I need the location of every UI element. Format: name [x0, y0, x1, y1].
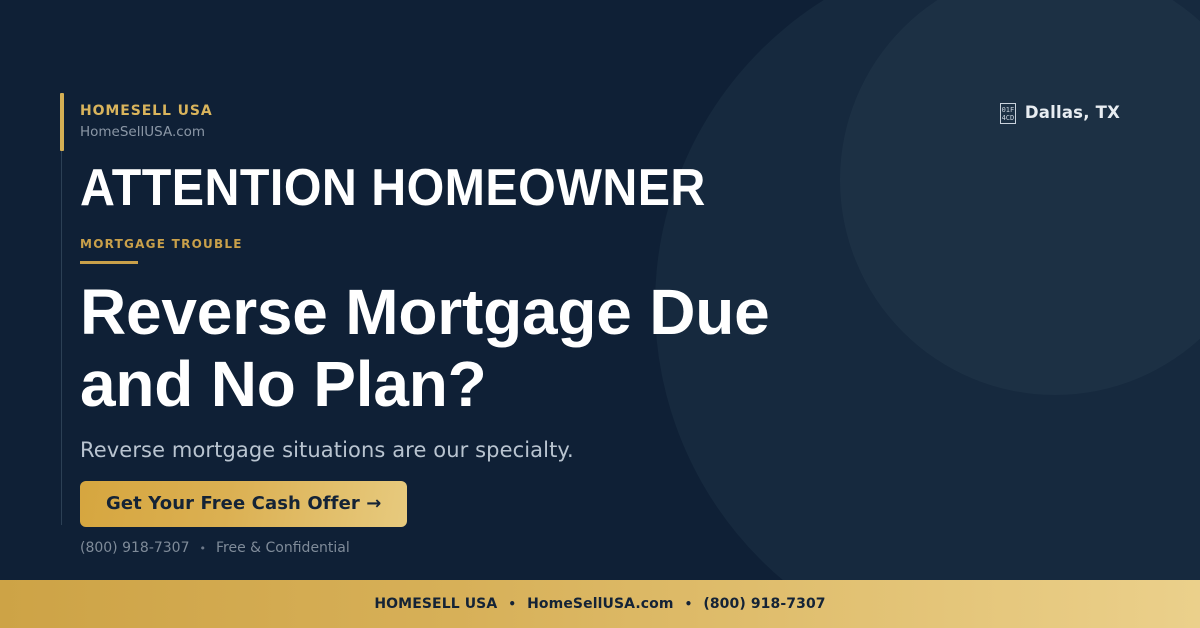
- footer-bar: HOMESELL USA • HomeSellUSA.com • (800) 9…: [0, 580, 1200, 628]
- page-title: Reverse Mortgage Due and No Plan?: [80, 276, 960, 420]
- pin-icon-codepoint-top: 01F: [1002, 106, 1015, 114]
- headline-line-2: and No Plan?: [80, 348, 960, 420]
- contact-separator-icon: •: [200, 543, 207, 554]
- pin-icon-codepoint-bottom: 4CD: [1002, 114, 1015, 122]
- brand-website: HomeSellUSA.com: [80, 126, 213, 140]
- contact-note: Free & Confidential: [216, 541, 350, 555]
- headline-line-1: Reverse Mortgage Due: [80, 276, 960, 348]
- get-free-cash-offer-button[interactable]: Get Your Free Cash Offer →: [80, 481, 407, 527]
- brand-name: HOMESELL USA: [80, 104, 213, 118]
- ad-banner: HOMESELL USA HomeSellUSA.com 01F 4CD Dal…: [0, 0, 1200, 628]
- contact-line: (800) 918-7307 • Free & Confidential: [80, 541, 350, 555]
- attention-headline: ATTENTION HOMEOWNER: [80, 159, 706, 217]
- location-label: Dallas, TX: [1025, 105, 1120, 122]
- eyebrow-underline: [80, 261, 138, 264]
- left-rail-gold-accent: [60, 93, 64, 151]
- footer-brand: HOMESELL USA: [374, 597, 497, 611]
- footer-content: HOMESELL USA • HomeSellUSA.com • (800) 9…: [374, 597, 825, 611]
- footer-separator-one-icon: •: [508, 598, 516, 610]
- location-badge: 01F 4CD Dallas, TX: [1000, 103, 1120, 124]
- banner-content: HOMESELL USA HomeSellUSA.com 01F 4CD Dal…: [80, 0, 1120, 628]
- left-rail-line: [61, 150, 62, 525]
- subheadline: Reverse mortgage situations are our spec…: [80, 436, 574, 464]
- pin-icon: 01F 4CD: [1000, 103, 1016, 124]
- eyebrow-label: MORTGAGE TROUBLE: [80, 238, 243, 250]
- footer-phone[interactable]: (800) 918-7307: [703, 597, 825, 611]
- footer-website[interactable]: HomeSellUSA.com: [527, 597, 673, 611]
- contact-phone[interactable]: (800) 918-7307: [80, 541, 190, 555]
- brand-block: HOMESELL USA HomeSellUSA.com: [80, 104, 213, 140]
- footer-separator-two-icon: •: [685, 598, 693, 610]
